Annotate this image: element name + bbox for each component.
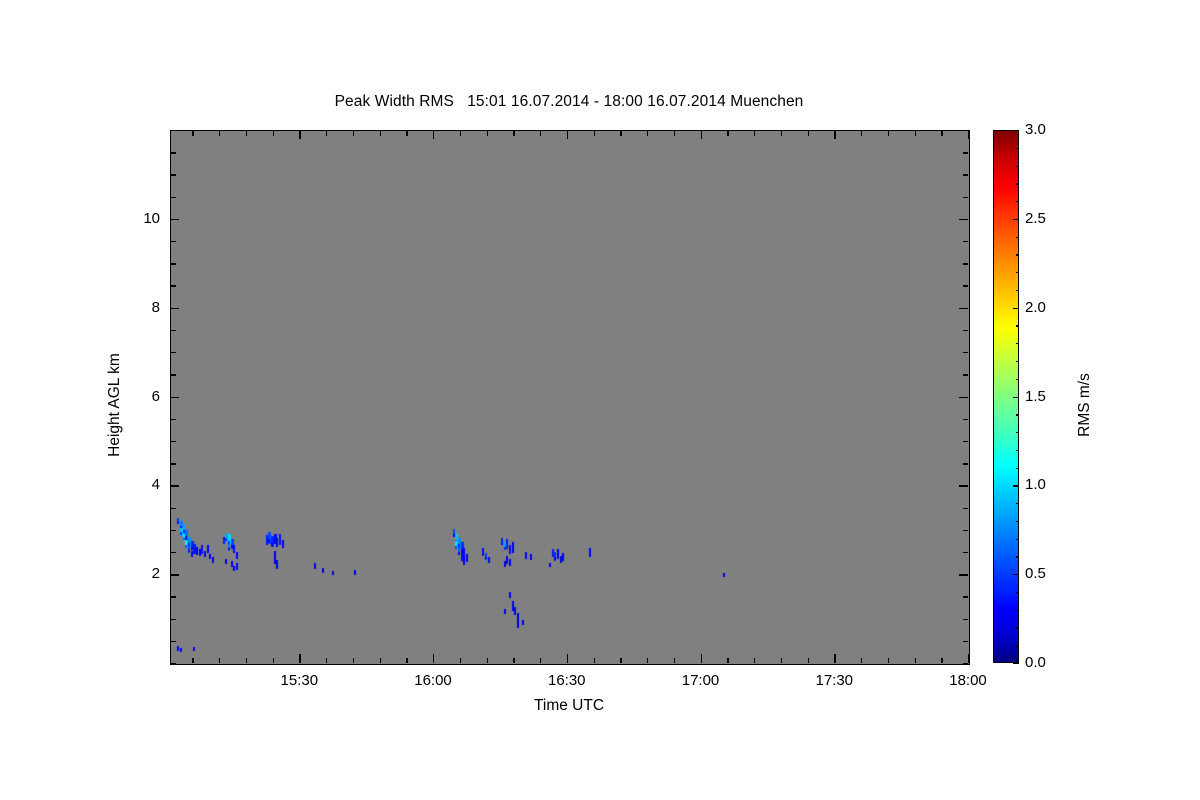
- y-tick: [963, 197, 969, 198]
- colorbar-label: RMS m/s: [1076, 305, 1094, 505]
- x-axis-label: Time UTC: [170, 697, 968, 715]
- colorbar-tick: [1013, 663, 1019, 664]
- x-tick: [406, 130, 407, 136]
- x-tick: [567, 654, 568, 663]
- x-tick: [915, 658, 916, 664]
- x-tick: [781, 130, 782, 136]
- colorbar-tick-label: 2.5: [1025, 210, 1046, 228]
- x-tick: [433, 130, 434, 139]
- x-tick: [941, 130, 942, 136]
- x-tick: [567, 130, 568, 139]
- x-tick: [460, 130, 461, 136]
- x-tick: [594, 130, 595, 136]
- y-tick: [170, 663, 176, 664]
- colorbar-tick-label: 0.0: [1025, 654, 1046, 672]
- colorbar-tick: [1016, 503, 1020, 504]
- colorbar-tick: [1016, 166, 1020, 167]
- x-tick-label: 16:30: [548, 672, 586, 690]
- colorbar-tick: [1016, 539, 1020, 540]
- x-tick: [594, 658, 595, 664]
- y-tick: [963, 352, 969, 353]
- x-tick: [620, 658, 621, 664]
- y-tick: [170, 197, 176, 198]
- colorbar-tick: [1016, 272, 1020, 273]
- y-tick: [170, 619, 176, 620]
- colorbar-tick: [1016, 432, 1020, 433]
- y-tick: [170, 508, 176, 509]
- x-tick: [460, 658, 461, 664]
- x-tick: [433, 654, 434, 663]
- x-tick: [513, 658, 514, 664]
- colorbar-tick: [1013, 485, 1019, 486]
- x-tick: [299, 130, 300, 139]
- y-tick: [170, 330, 176, 331]
- y-tick: [170, 241, 176, 242]
- y-tick: [170, 285, 176, 286]
- x-tick: [968, 130, 969, 139]
- x-tick: [674, 130, 675, 136]
- x-tick: [192, 130, 193, 136]
- colorbar-tick: [1016, 148, 1020, 149]
- x-tick: [299, 654, 300, 663]
- x-tick: [701, 130, 702, 139]
- y-tick: [170, 419, 176, 420]
- y-tick: [959, 308, 968, 309]
- y-axis-label: Height AGL km: [106, 285, 124, 525]
- y-tick: [170, 174, 176, 175]
- colorbar-tick: [1013, 130, 1019, 131]
- y-tick: [170, 574, 179, 575]
- x-tick: [968, 654, 969, 663]
- x-tick: [326, 658, 327, 664]
- y-tick: [959, 397, 968, 398]
- x-tick: [834, 654, 835, 663]
- x-tick: [808, 658, 809, 664]
- colorbar-tick: [1016, 183, 1020, 184]
- x-tick: [513, 130, 514, 136]
- x-tick: [888, 658, 889, 664]
- x-tick: [273, 130, 274, 136]
- x-tick: [326, 130, 327, 136]
- colorbar-tick: [1016, 254, 1020, 255]
- x-tick: [647, 658, 648, 664]
- colorbar-tick-label: 3.0: [1025, 121, 1046, 139]
- colorbar-tick: [1016, 450, 1020, 451]
- x-tick: [861, 658, 862, 664]
- y-tick: [170, 441, 176, 442]
- colorbar-tick: [1016, 610, 1020, 611]
- y-tick: [170, 152, 176, 153]
- colorbar-tick-label: 1.0: [1025, 476, 1046, 494]
- colorbar-tick: [1016, 290, 1020, 291]
- x-tick: [727, 130, 728, 136]
- y-tick: [963, 441, 969, 442]
- colorbar-tick: [1016, 645, 1020, 646]
- colorbar-tick: [1016, 201, 1020, 202]
- y-tick-label: 6: [128, 388, 160, 406]
- colorbar-tick: [1016, 325, 1020, 326]
- y-tick-label: 2: [128, 565, 160, 583]
- x-tick: [380, 130, 381, 136]
- x-tick: [192, 658, 193, 664]
- y-tick-label: 10: [128, 210, 160, 228]
- colorbar-tick: [1016, 361, 1020, 362]
- x-tick: [808, 130, 809, 136]
- colorbar-tick: [1016, 592, 1020, 593]
- y-tick: [170, 397, 179, 398]
- colorbar-tick-label: 0.5: [1025, 565, 1046, 583]
- y-tick: [963, 508, 969, 509]
- y-tick: [170, 308, 179, 309]
- x-tick: [406, 658, 407, 664]
- y-tick: [170, 596, 176, 597]
- y-tick: [170, 263, 176, 264]
- x-tick: [888, 130, 889, 136]
- y-tick-label: 4: [128, 476, 160, 494]
- y-tick: [963, 619, 969, 620]
- y-tick: [959, 219, 968, 220]
- x-tick: [861, 130, 862, 136]
- colorbar-tick: [1016, 556, 1020, 557]
- heatmap-data-layer: [171, 131, 969, 664]
- y-tick: [963, 330, 969, 331]
- x-tick: [941, 658, 942, 664]
- x-tick: [834, 130, 835, 139]
- x-tick: [620, 130, 621, 136]
- x-tick: [540, 130, 541, 136]
- y-tick: [170, 352, 176, 353]
- x-tick: [273, 658, 274, 664]
- x-tick: [219, 658, 220, 664]
- x-tick: [353, 658, 354, 664]
- y-tick: [963, 285, 969, 286]
- x-tick: [246, 130, 247, 136]
- y-tick: [170, 485, 179, 486]
- x-tick: [727, 658, 728, 664]
- y-tick: [963, 552, 969, 553]
- y-tick: [170, 219, 179, 220]
- x-tick-label: 15:30: [281, 672, 319, 690]
- y-tick: [963, 596, 969, 597]
- x-tick: [540, 658, 541, 664]
- x-tick: [915, 130, 916, 136]
- x-tick-label: 17:00: [682, 672, 720, 690]
- x-tick: [647, 130, 648, 136]
- colorbar-tick: [1016, 379, 1020, 380]
- colorbar-tick: [1013, 219, 1019, 220]
- colorbar-tick: [1016, 414, 1020, 415]
- x-tick: [781, 658, 782, 664]
- y-tick: [963, 641, 969, 642]
- colorbar-tick: [1016, 468, 1020, 469]
- y-tick: [170, 463, 176, 464]
- y-tick: [963, 174, 969, 175]
- y-tick: [963, 463, 969, 464]
- plot-area[interactable]: [170, 130, 970, 665]
- x-tick: [353, 130, 354, 136]
- x-tick-label: 18:00: [949, 672, 987, 690]
- x-tick: [701, 654, 702, 663]
- y-tick: [170, 530, 176, 531]
- y-tick: [963, 263, 969, 264]
- x-tick: [487, 130, 488, 136]
- y-tick: [170, 641, 176, 642]
- y-tick: [170, 552, 176, 553]
- colorbar-tick: [1016, 521, 1020, 522]
- y-tick: [963, 530, 969, 531]
- x-tick-label: 17:30: [815, 672, 853, 690]
- colorbar-tick: [1016, 237, 1020, 238]
- y-tick: [959, 485, 968, 486]
- x-tick: [219, 130, 220, 136]
- y-tick: [963, 663, 969, 664]
- figure-canvas: Peak Width RMS 15:01 16.07.2014 - 18:00 …: [0, 0, 1200, 800]
- page-title: Peak Width RMS 15:01 16.07.2014 - 18:00 …: [170, 92, 968, 112]
- colorbar-tick: [1013, 574, 1019, 575]
- y-tick-label: 8: [128, 299, 160, 317]
- y-tick: [963, 419, 969, 420]
- colorbar-tick: [1013, 397, 1019, 398]
- x-tick-label: 16:00: [414, 672, 452, 690]
- colorbar-tick: [1013, 308, 1019, 309]
- y-tick: [963, 241, 969, 242]
- x-tick: [246, 658, 247, 664]
- y-tick: [170, 130, 176, 131]
- x-tick: [487, 658, 488, 664]
- y-tick: [963, 374, 969, 375]
- x-tick: [380, 658, 381, 664]
- colorbar-tick: [1016, 343, 1020, 344]
- y-tick: [170, 374, 176, 375]
- colorbar-tick-label: 1.5: [1025, 388, 1046, 406]
- x-tick: [754, 658, 755, 664]
- colorbar-tick-label: 2.0: [1025, 299, 1046, 317]
- y-tick: [963, 152, 969, 153]
- x-tick: [674, 658, 675, 664]
- y-tick: [963, 130, 969, 131]
- colorbar-tick: [1016, 627, 1020, 628]
- x-tick: [754, 130, 755, 136]
- y-tick: [959, 574, 968, 575]
